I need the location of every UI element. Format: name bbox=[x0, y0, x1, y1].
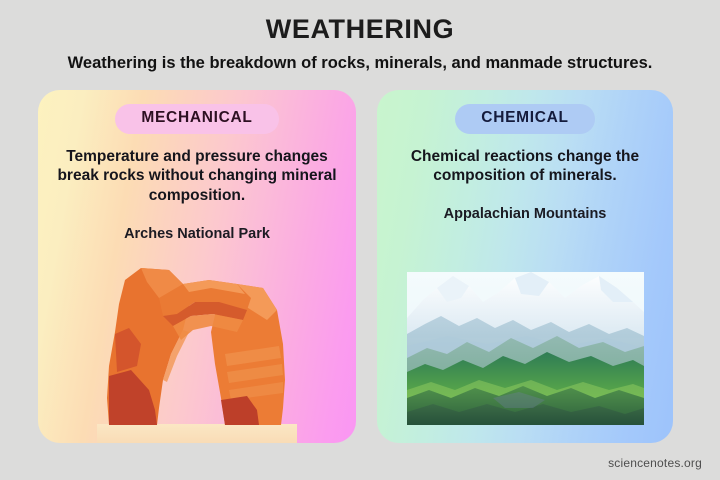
sandstone-arch-illustration bbox=[38, 258, 356, 443]
card-mechanical-description: Temperature and pressure changes break r… bbox=[38, 134, 356, 206]
card-mechanical-caption: Arches National Park bbox=[38, 206, 356, 243]
card-chemical-content: CHEMICAL Chemical reactions change the c… bbox=[377, 90, 673, 443]
watercolor-mountains-illustration bbox=[377, 272, 673, 443]
source-credit: sciencenotes.org bbox=[608, 456, 702, 470]
mountains-photo-frame bbox=[407, 272, 644, 425]
header: WEATHERING Weathering is the breakdown o… bbox=[0, 0, 720, 73]
card-chemical-caption: Appalachian Mountains bbox=[377, 186, 673, 223]
card-mechanical-pill-label: MECHANICAL bbox=[115, 104, 278, 134]
weathering-infographic: WEATHERING Weathering is the breakdown o… bbox=[0, 0, 720, 480]
card-chemical-pill-label: CHEMICAL bbox=[455, 104, 594, 134]
card-mechanical[interactable]: MECHANICAL Temperature and pressure chan… bbox=[38, 90, 356, 443]
card-chemical[interactable]: CHEMICAL Chemical reactions change the c… bbox=[377, 90, 673, 443]
page-title: WEATHERING bbox=[0, 0, 720, 45]
card-mechanical-content: MECHANICAL Temperature and pressure chan… bbox=[38, 90, 356, 443]
card-chemical-description: Chemical reactions change the compositio… bbox=[377, 134, 673, 187]
page-subtitle: Weathering is the breakdown of rocks, mi… bbox=[0, 45, 720, 73]
